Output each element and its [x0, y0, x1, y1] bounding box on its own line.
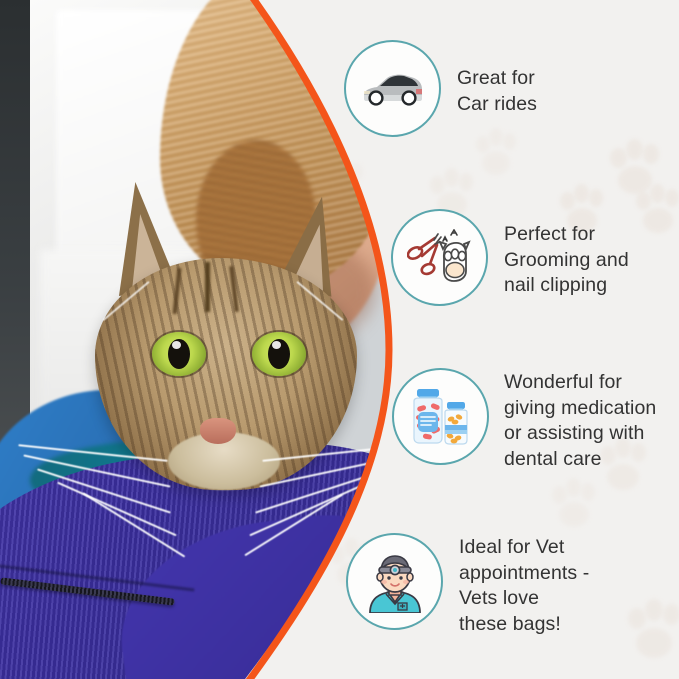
cat-forehead-marking-2	[205, 262, 210, 312]
nail-clippers-and-paw-icon	[407, 229, 473, 287]
cat-eye-glint-right	[272, 341, 281, 349]
feature-label: Ideal for Vet appointments - Vets love t…	[459, 535, 589, 637]
feature-label: Perfect for Grooming and nail clipping	[504, 222, 629, 299]
car-icon	[360, 69, 426, 109]
feature-label: Great for Car rides	[457, 66, 537, 117]
veterinarian-icon	[364, 551, 426, 613]
feature-label: Wonderful for giving medication or assis…	[504, 370, 656, 472]
feature-icon-circle	[391, 209, 488, 306]
feature-icon-circle	[392, 368, 489, 465]
cat-nose	[200, 418, 236, 444]
feature-vet-appointments: Ideal for Vet appointments - Vets love t…	[346, 533, 589, 637]
feature-icon-circle	[344, 40, 441, 137]
product-infographic: Great for Car rides	[0, 0, 679, 679]
feature-car-rides: Great for Car rides	[344, 40, 537, 137]
medicine-bottles-icon	[407, 386, 475, 448]
feature-medication: Wonderful for giving medication or assis…	[392, 368, 656, 472]
feature-icon-circle	[346, 533, 443, 630]
feature-grooming: Perfect for Grooming and nail clipping	[391, 209, 629, 306]
cat-eye-glint-left	[172, 341, 181, 349]
